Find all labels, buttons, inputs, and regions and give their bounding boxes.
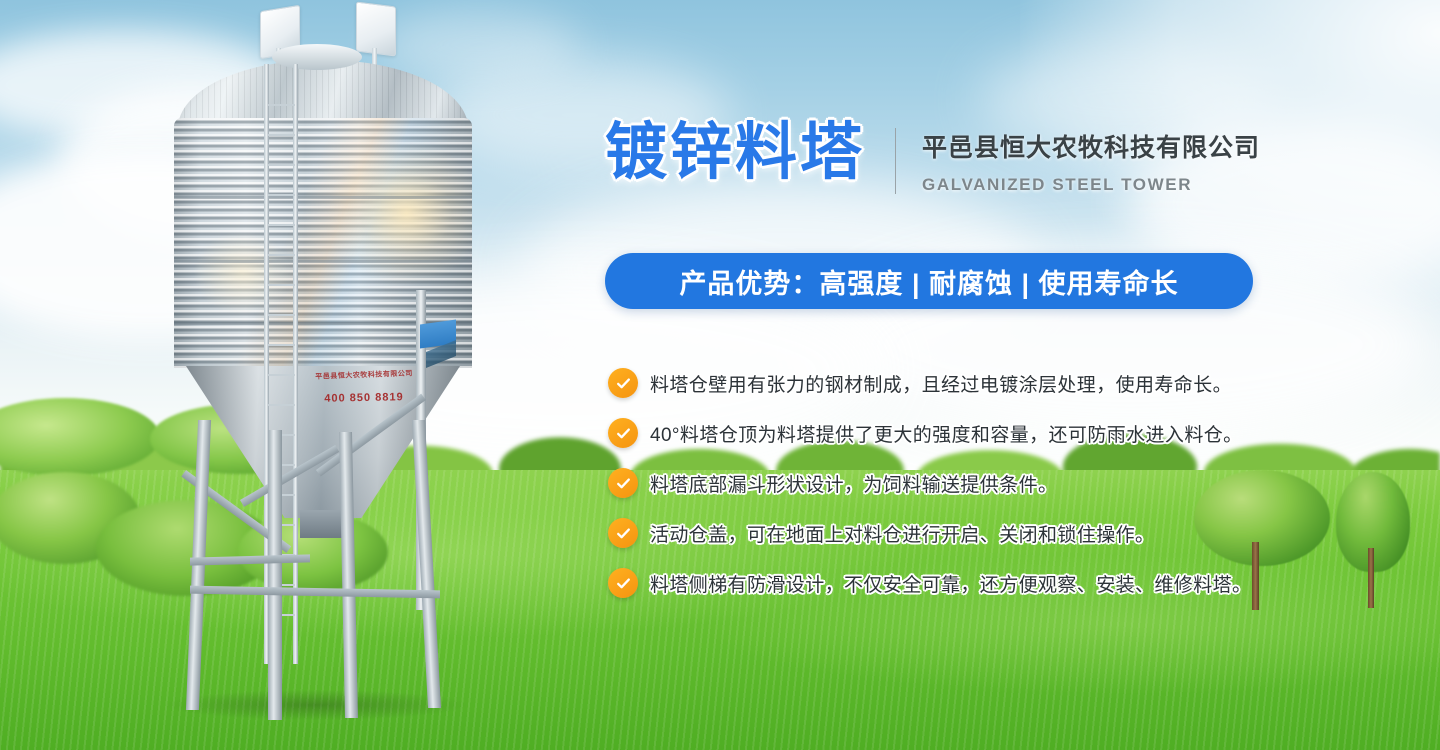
promo-banner: 平邑县恒大农牧科技有限公司 400 850 8819 <box>0 0 1440 750</box>
company-name: 平邑县恒大农牧科技有限公司 <box>922 128 1260 164</box>
check-icon <box>608 418 638 448</box>
headline-row: 镀锌料塔 平邑县恒大农牧科技有限公司 GALVANIZED STEEL TOWE… <box>605 122 1260 195</box>
list-item-label: 40°料塔仓顶为料塔提供了更大的强度和容量，还可防雨水进入料仓。 <box>650 420 1243 447</box>
list-item: 料塔底部漏斗形状设计，为饲料输送提供条件。 <box>608 458 1308 508</box>
title-divider <box>895 128 896 194</box>
check-icon <box>608 368 638 398</box>
company-block: 平邑县恒大农牧科技有限公司 GALVANIZED STEEL TOWER <box>922 122 1260 195</box>
list-item-label: 料塔底部漏斗形状设计，为饲料输送提供条件。 <box>650 470 1057 497</box>
banner-content: 镀锌料塔 平邑县恒大农牧科技有限公司 GALVANIZED STEEL TOWE… <box>0 0 1440 750</box>
product-advantage-text: 产品优势：高强度 | 耐腐蚀 | 使用寿命长 <box>679 262 1178 301</box>
check-icon <box>608 468 638 498</box>
list-item: 料塔仓壁用有张力的钢材制成，且经过电镀涂层处理，使用寿命长。 <box>608 358 1308 408</box>
product-advantage-banner: 产品优势：高强度 | 耐腐蚀 | 使用寿命长 <box>605 253 1253 309</box>
list-item: 活动仓盖，可在地面上对料仓进行开启、关闭和锁住操作。 <box>608 508 1308 558</box>
list-item: 40°料塔仓顶为料塔提供了更大的强度和容量，还可防雨水进入料仓。 <box>608 408 1308 458</box>
page-title: 镀锌料塔 <box>605 122 865 184</box>
list-item-label: 料塔仓壁用有张力的钢材制成，且经过电镀涂层处理，使用寿命长。 <box>650 370 1232 397</box>
check-icon <box>608 518 638 548</box>
check-icon <box>608 568 638 598</box>
list-item-label: 料塔侧梯有防滑设计，不仅安全可靠，还方便观察、安装、维修料塔。 <box>650 570 1251 597</box>
company-name-english: GALVANIZED STEEL TOWER <box>922 175 1260 195</box>
list-item-label: 活动仓盖，可在地面上对料仓进行开启、关闭和锁住操作。 <box>650 520 1154 547</box>
feature-list: 料塔仓壁用有张力的钢材制成，且经过电镀涂层处理，使用寿命长。 40°料塔仓顶为料… <box>608 358 1308 608</box>
list-item: 料塔侧梯有防滑设计，不仅安全可靠，还方便观察、安装、维修料塔。 <box>608 558 1308 608</box>
